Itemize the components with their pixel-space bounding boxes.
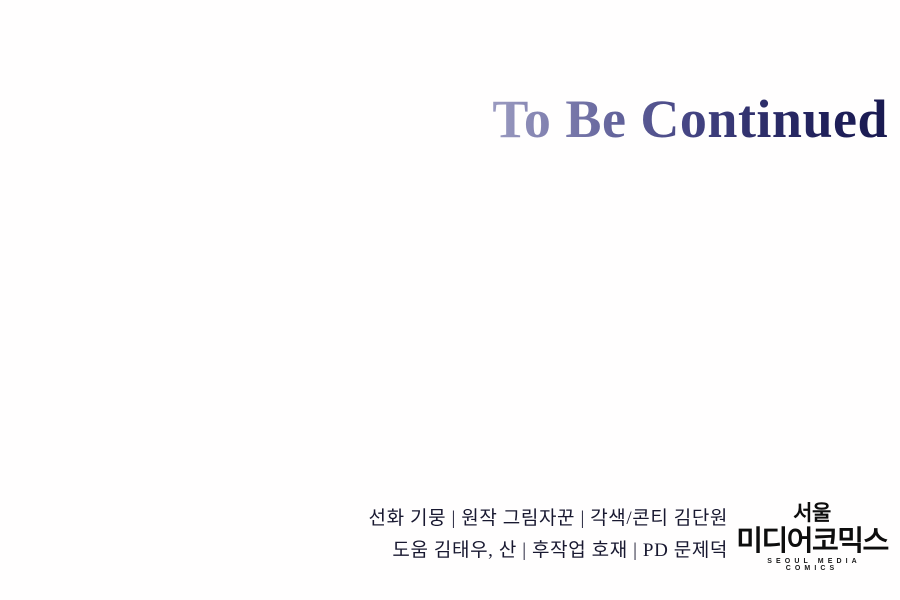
to-be-continued-block: To Be Continued <box>0 92 888 146</box>
publisher-logo-main-text: 미디어코믹스 <box>733 527 891 555</box>
credits-line-2: 도움 김태우, 산 | 후작업 호재 | PD 문제덕 <box>369 535 729 568</box>
publisher-logo: 서울 미디어코믹스 SEOUL MEDIA COMICS <box>736 503 888 572</box>
publisher-logo-sub-text: SEOUL MEDIA COMICS <box>736 558 888 572</box>
credits-line-1: 선화 기뭉 | 원작 그림자꾼 | 각색/콘티 김단원 <box>369 503 729 536</box>
footer: 선화 기뭉 | 원작 그림자꾼 | 각색/콘티 김단원 도움 김태우, 산 | … <box>0 492 900 582</box>
credits-block: 선화 기뭉 | 원작 그림자꾼 | 각색/콘티 김단원 도움 김태우, 산 | … <box>369 503 729 568</box>
comic-end-page: To Be Continued 선화 기뭉 | 원작 그림자꾼 | 각색/콘티 … <box>0 0 900 600</box>
to-be-continued-title: To Be Continued <box>492 92 888 146</box>
publisher-logo-top-text: 서울 <box>736 503 888 524</box>
